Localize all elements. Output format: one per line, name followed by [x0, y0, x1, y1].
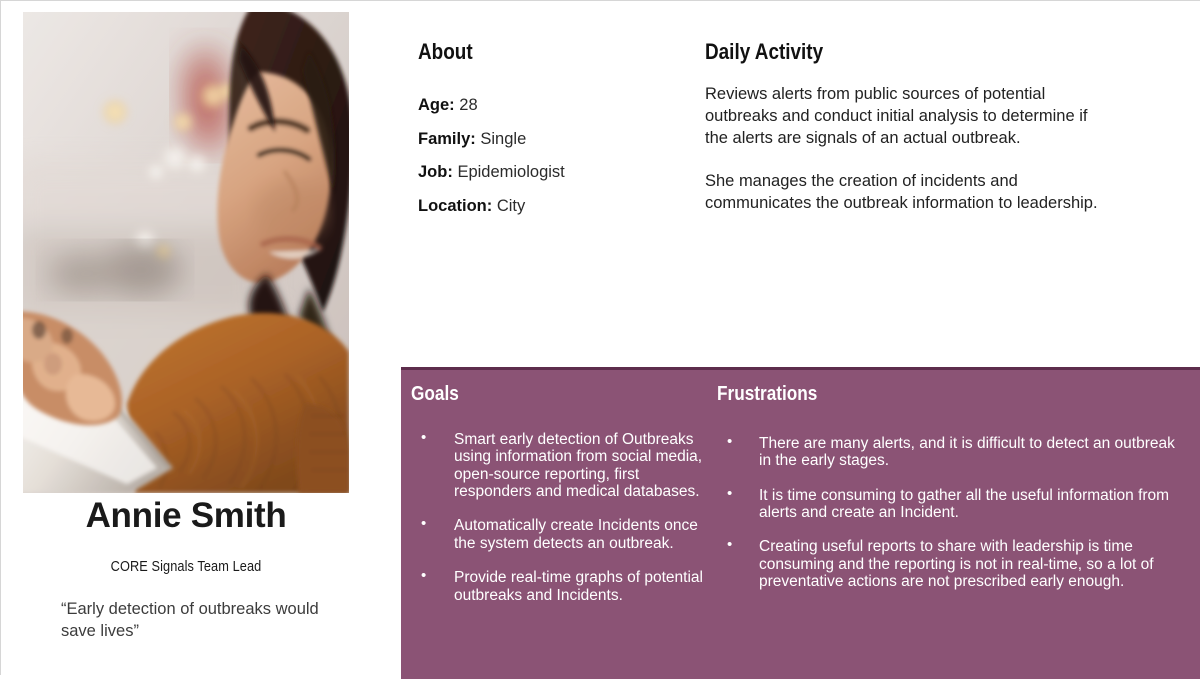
about-section: About Age: 28 Family: Single Job: Epidem… [418, 39, 688, 230]
persona-name: Annie Smith [23, 497, 349, 536]
frustrations-section: Frustrations There are many alerts, and … [717, 383, 1187, 608]
about-row-job: Job: Epidemiologist [418, 162, 688, 183]
about-label-family: Family: [418, 130, 476, 148]
daily-activity-paragraph: Reviews alerts from public sources of po… [705, 84, 1105, 149]
about-row-age: Age: 28 [418, 95, 688, 116]
about-value-age: 28 [459, 96, 477, 114]
about-label-age: Age: [418, 96, 455, 114]
goals-list-item: Automatically create Incidents once the … [411, 517, 711, 552]
about-row-family: Family: Single [418, 129, 688, 150]
frustrations-list: There are many alerts, and it is difficu… [717, 435, 1187, 591]
daily-activity-paragraph: She manages the creation of incidents an… [705, 171, 1105, 215]
persona-role: CORE Signals Team Lead [43, 559, 330, 575]
frustrations-list-item: Creating useful reports to share with le… [717, 538, 1187, 590]
goals-section: Goals Smart early detection of Outbreaks… [411, 383, 711, 621]
frustrations-list-item: It is time consuming to gather all the u… [717, 487, 1187, 522]
about-label-job: Job: [418, 163, 453, 181]
persona-slide: Annie Smith CORE Signals Team Lead “Earl… [0, 0, 1200, 675]
goals-list-item: Provide real-time graphs of potential ou… [411, 569, 711, 604]
persona-quote: “Early detection of outbreaks would save… [61, 598, 331, 643]
about-label-location: Location: [418, 197, 492, 215]
about-heading: About [418, 39, 650, 65]
goals-list-item: Smart early detection of Outbreaks using… [411, 431, 711, 500]
about-value-family: Single [480, 130, 526, 148]
daily-activity-heading: Daily Activity [705, 39, 1049, 65]
about-row-location: Location: City [418, 196, 688, 217]
frustrations-heading: Frustrations [717, 383, 1121, 406]
persona-photo [23, 12, 349, 493]
about-value-job: Epidemiologist [457, 163, 564, 181]
goals-frustrations-panel: Goals Smart early detection of Outbreaks… [401, 367, 1200, 679]
about-value-location: City [497, 197, 525, 215]
daily-activity-section: Daily Activity Reviews alerts from publi… [705, 39, 1105, 215]
persona-photo-image [23, 12, 349, 493]
goals-heading: Goals [411, 383, 669, 406]
frustrations-list-item: There are many alerts, and it is difficu… [717, 435, 1187, 470]
goals-list: Smart early detection of Outbreaks using… [411, 431, 711, 604]
